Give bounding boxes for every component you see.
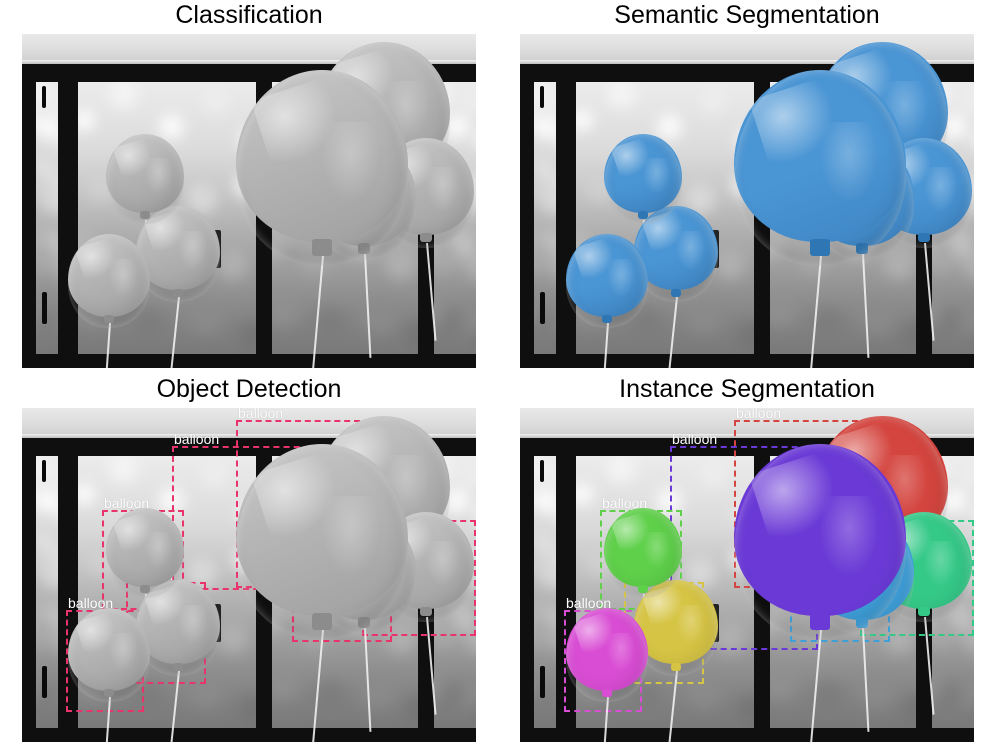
balloon-knot: [104, 315, 114, 323]
panel-title-semantic-segmentation: Semantic Segmentation: [498, 0, 996, 30]
balloon-body: [106, 134, 184, 213]
balloon-upper-left-mid: [106, 508, 184, 598]
balloon-highlight: [251, 451, 349, 544]
window-pane: [534, 82, 556, 368]
balloon-knot: [918, 233, 930, 243]
balloon-knot: [312, 239, 333, 257]
balloon-highlight-secondary: [643, 158, 670, 194]
balloon-body: [106, 508, 184, 587]
balloon-knot: [810, 613, 831, 631]
balloon-highlight: [113, 511, 157, 554]
window-mullion: [22, 354, 476, 368]
balloon-highlight-secondary: [820, 496, 878, 575]
balloon-highlight-secondary: [426, 541, 459, 586]
panel-title-instance-segmentation: Instance Segmentation: [498, 374, 996, 404]
balloon-highlight-secondary: [924, 167, 957, 212]
balloon-body: [604, 134, 682, 213]
window-handle: [540, 666, 545, 698]
image-object-detection: balloonballoonballoonballoonballoonballo…: [22, 408, 476, 742]
panel-title-classification: Classification: [0, 0, 498, 30]
balloon-highlight-secondary: [178, 605, 207, 644]
window-pane: [534, 456, 556, 742]
foliage: [36, 82, 58, 368]
balloon-highlight-secondary: [607, 633, 635, 671]
balloon-body: [604, 508, 682, 587]
balloon-highlight-secondary: [109, 633, 137, 671]
balloon-highlight-secondary: [109, 259, 137, 297]
balloon-knot: [671, 663, 681, 672]
balloon-body: [68, 608, 150, 691]
balloon-body: [236, 70, 408, 242]
balloon-knot: [312, 613, 333, 631]
balloon-lower-left: [566, 234, 648, 328]
panel-instance-segmentation: Instance Segmentation balloonballoonball…: [498, 374, 996, 748]
image-semantic-segmentation: [520, 34, 974, 368]
foliage: [534, 456, 556, 742]
balloon-highlight-secondary: [322, 122, 380, 201]
scene-gray: [22, 34, 476, 368]
balloon-highlight-secondary: [145, 532, 172, 568]
window-mullion: [520, 64, 534, 368]
balloon-knot: [638, 585, 647, 593]
balloon-knot: [918, 607, 930, 617]
window-mullion: [520, 354, 974, 368]
balloon-center-big: [734, 70, 906, 266]
balloon-knot: [810, 239, 831, 257]
panel-title-object-detection: Object Detection: [0, 374, 498, 404]
balloon-body: [566, 608, 648, 691]
balloon-knot: [602, 689, 612, 697]
balloon-center-big: [236, 444, 408, 640]
balloon-knot: [420, 607, 432, 617]
balloon-center-big: [734, 444, 906, 640]
scene-semantic: [520, 34, 974, 368]
window-handle: [42, 292, 47, 324]
balloon-highlight-secondary: [322, 496, 380, 575]
balloon-highlight: [251, 77, 349, 170]
balloon-upper-left-mid: [604, 134, 682, 224]
window-handle: [540, 292, 545, 324]
window-handle: [42, 460, 46, 482]
balloon-knot: [671, 289, 681, 298]
window-mullion: [22, 728, 476, 742]
window-mullion: [22, 64, 36, 368]
balloon-upper-left-mid: [106, 134, 184, 224]
balloon-lower-left: [68, 608, 150, 702]
balloon-body: [734, 444, 906, 616]
balloon-knot: [104, 689, 114, 697]
balloon-highlight-secondary: [178, 231, 207, 270]
balloon-body: [236, 444, 408, 616]
window-mullion: [520, 728, 974, 742]
window-handle: [540, 86, 544, 108]
balloon-highlight-secondary: [820, 122, 878, 201]
balloon-upper-left-mid: [604, 508, 682, 598]
balloon-highlight-secondary: [924, 541, 957, 586]
balloon-body: [734, 70, 906, 242]
balloon-highlight: [611, 137, 655, 180]
balloon-knot: [420, 233, 432, 243]
image-classification: [22, 34, 476, 368]
balloon-highlight: [573, 611, 620, 656]
scene-instance: [520, 408, 974, 742]
panel-grid: Classification Semantic Segmentation Obj…: [0, 0, 996, 748]
balloon-highlight-secondary: [145, 158, 172, 194]
scene-detection: [22, 408, 476, 742]
balloon-highlight-secondary: [426, 167, 459, 212]
balloon-knot: [140, 211, 149, 219]
balloon-knot: [638, 211, 647, 219]
balloon-highlight: [573, 237, 620, 282]
balloon-highlight: [113, 137, 157, 180]
balloon-center-big: [236, 70, 408, 266]
panel-classification: Classification: [0, 0, 498, 374]
balloon-body: [68, 234, 150, 317]
balloon-highlight-secondary: [643, 532, 670, 568]
balloon-knot: [602, 315, 612, 323]
balloon-highlight-secondary: [676, 605, 705, 644]
balloon-lower-left: [68, 234, 150, 328]
balloon-highlight: [75, 611, 122, 656]
balloon-highlight: [611, 511, 655, 554]
balloon-knot: [173, 289, 183, 298]
balloon-highlight-secondary: [607, 259, 635, 297]
balloon-lower-left: [566, 608, 648, 702]
panel-semantic-segmentation: Semantic Segmentation: [498, 0, 996, 374]
window-pane: [36, 82, 58, 368]
window-handle: [42, 86, 46, 108]
balloon-highlight-secondary: [676, 231, 705, 270]
image-instance-segmentation: balloonballoonballoonballoonballoonballo…: [520, 408, 974, 742]
foliage: [534, 82, 556, 368]
balloon-knot: [140, 585, 149, 593]
window-handle: [42, 666, 47, 698]
window-pane: [36, 456, 58, 742]
balloon-body: [566, 234, 648, 317]
window-handle: [540, 460, 544, 482]
foliage: [36, 456, 58, 742]
panel-object-detection: Object Detection balloonballoonballoonba…: [0, 374, 498, 748]
balloon-highlight: [749, 451, 847, 544]
balloon-knot: [173, 663, 183, 672]
balloon-highlight: [749, 77, 847, 170]
window-mullion: [22, 438, 36, 742]
balloon-highlight: [75, 237, 122, 282]
window-mullion: [520, 438, 534, 742]
